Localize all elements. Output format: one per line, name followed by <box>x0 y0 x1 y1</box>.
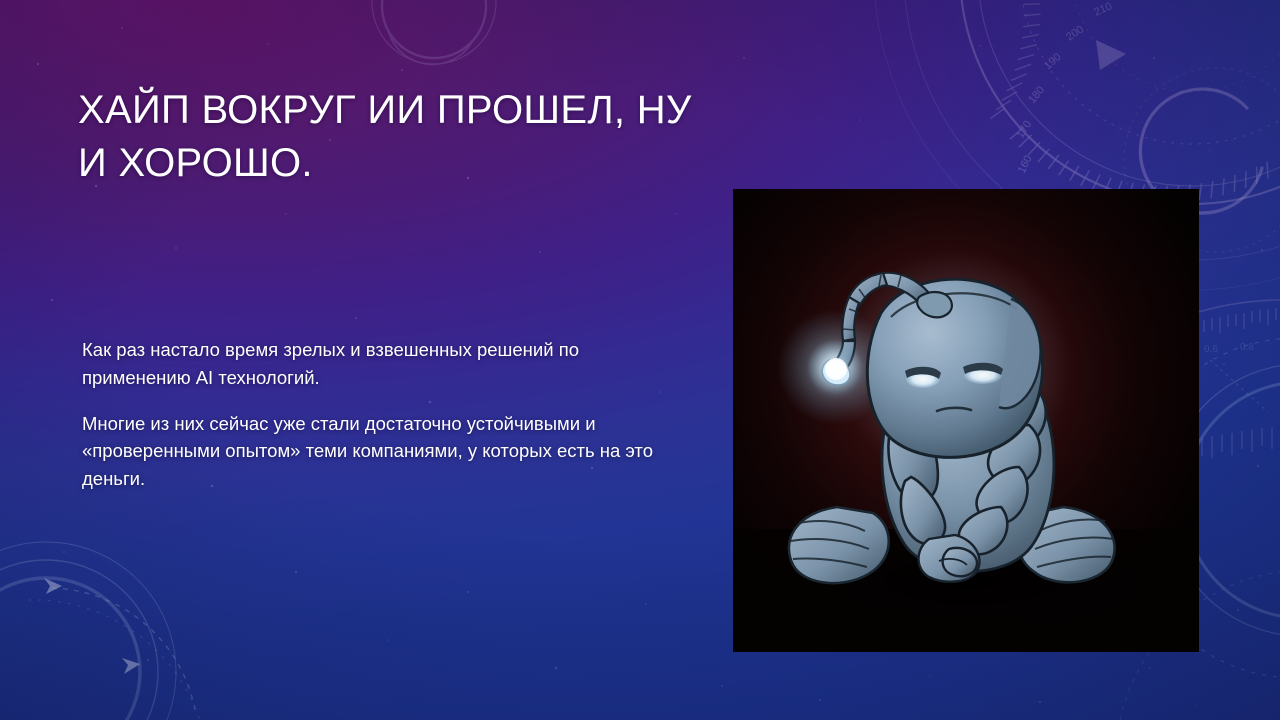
protractor-label: 200 <box>1064 23 1086 43</box>
sad-robot-icon <box>733 189 1199 652</box>
bottom-left-rings-decoration <box>0 542 176 720</box>
ruler-label: 0.6 <box>1204 344 1218 355</box>
protractor-label: 170 <box>1014 119 1034 141</box>
slide-title: ХАЙП ВОКРУГ ИИ ПРОШЕЛ, НУ И ХОРОШО. <box>78 84 728 190</box>
protractor-degree-labels: 160 170 180 190 200 210 <box>1014 0 1114 175</box>
presentation-slide: 160 170 180 190 200 210 <box>0 0 1280 720</box>
protractor-label: 180 <box>1026 84 1047 106</box>
orbit-path-decoration <box>28 588 200 720</box>
ruler-scale-labels: 0.6 0.8 <box>1204 342 1254 355</box>
slide-picture[interactable] <box>733 189 1199 652</box>
compass-needle-icon <box>1096 40 1126 70</box>
protractor-label: 210 <box>1092 0 1114 18</box>
robot-illustration <box>733 189 1199 652</box>
body-paragraph-2: Многие из них сейчас уже стали достаточн… <box>82 410 682 493</box>
orbit-arrow-icon <box>44 578 140 674</box>
slide-body-text: Как раз настало время зрелых и взвешенны… <box>82 336 682 493</box>
top-spiral-decoration <box>372 0 496 64</box>
protractor-label: 160 <box>1016 154 1035 176</box>
ruler-label: 0.8 <box>1240 342 1254 353</box>
body-paragraph-1: Как раз настало время зрелых и взвешенны… <box>82 336 682 392</box>
ruler-decoration: 0.6 0.8 <box>1186 300 1280 462</box>
protractor-label: 190 <box>1042 51 1064 72</box>
